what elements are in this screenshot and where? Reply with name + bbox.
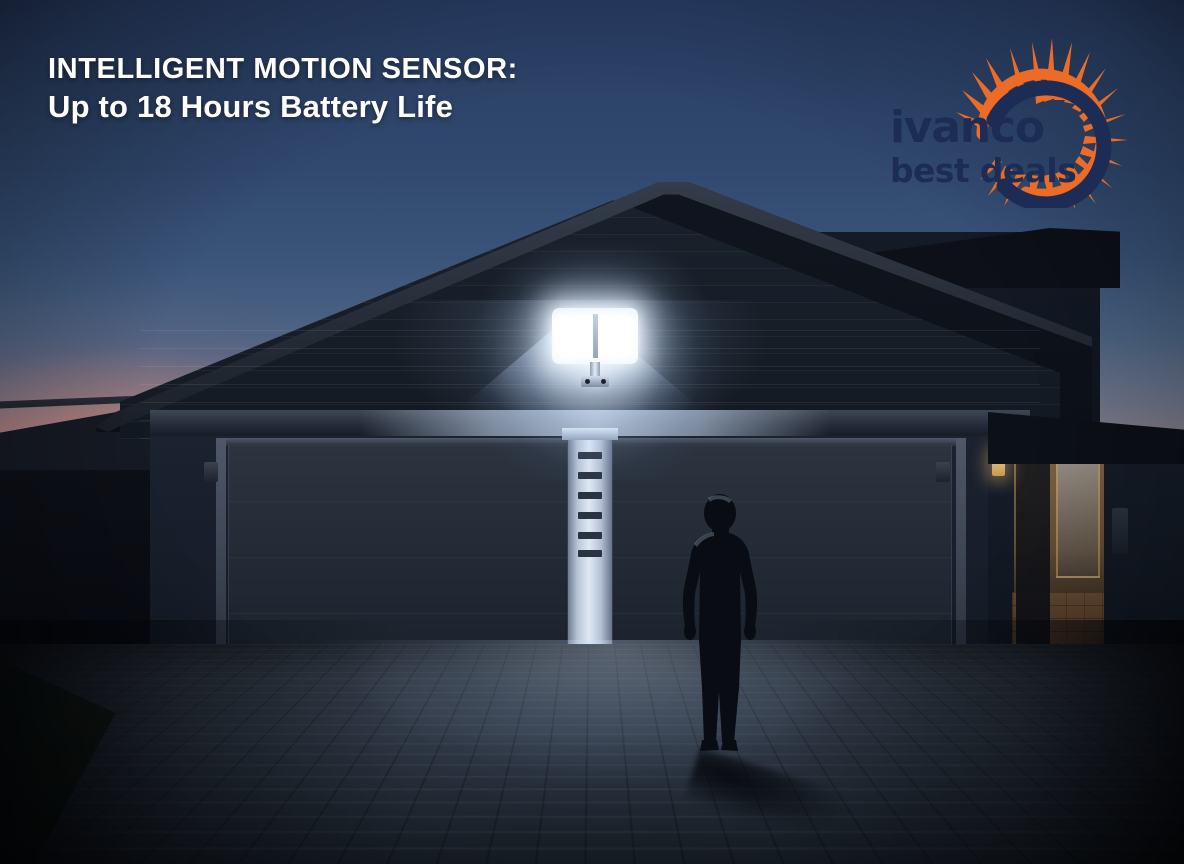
brand-logo[interactable]: ivanco best deals [876, 28, 1146, 208]
wall-sconce-right [936, 462, 950, 482]
logo-brand-name: ivanco [890, 106, 1076, 150]
walking-man-silhouette [672, 492, 768, 764]
pillar-vent-slot [578, 532, 602, 539]
wall-sconce-left [204, 462, 218, 482]
front-door [1016, 456, 1050, 656]
led-panel-left [559, 316, 593, 356]
pillar-vent-slot [578, 550, 602, 557]
exterior-fixture [1112, 508, 1128, 554]
porch-window [1056, 462, 1100, 578]
promo-banner: INTELLIGENT MOTION SENSOR: Up to 18 Hour… [0, 0, 1184, 864]
pillar-cap [562, 428, 618, 440]
pillar-vent-slot [578, 492, 602, 499]
mount-bolt [585, 379, 590, 384]
headline-line-2: Up to 18 Hours Battery Life [48, 86, 518, 128]
mount-bolt [601, 379, 606, 384]
headline: INTELLIGENT MOTION SENSOR: Up to 18 Hour… [48, 52, 518, 128]
logo-wordmark: ivanco best deals [890, 106, 1076, 187]
pillar-vent-slot [578, 452, 602, 459]
garage-door-right [612, 444, 952, 676]
light-divider [593, 314, 598, 358]
motion-sensor-light-fixture [552, 308, 638, 376]
pillar-vent-slot [578, 472, 602, 479]
logo-tagline: best deals [890, 154, 1076, 187]
garage-door-left [228, 444, 568, 676]
headline-line-1: INTELLIGENT MOTION SENSOR: [48, 52, 518, 86]
paver-driveway [0, 644, 1184, 864]
led-panel-right [597, 316, 631, 356]
pillar-vent-slot [578, 512, 602, 519]
